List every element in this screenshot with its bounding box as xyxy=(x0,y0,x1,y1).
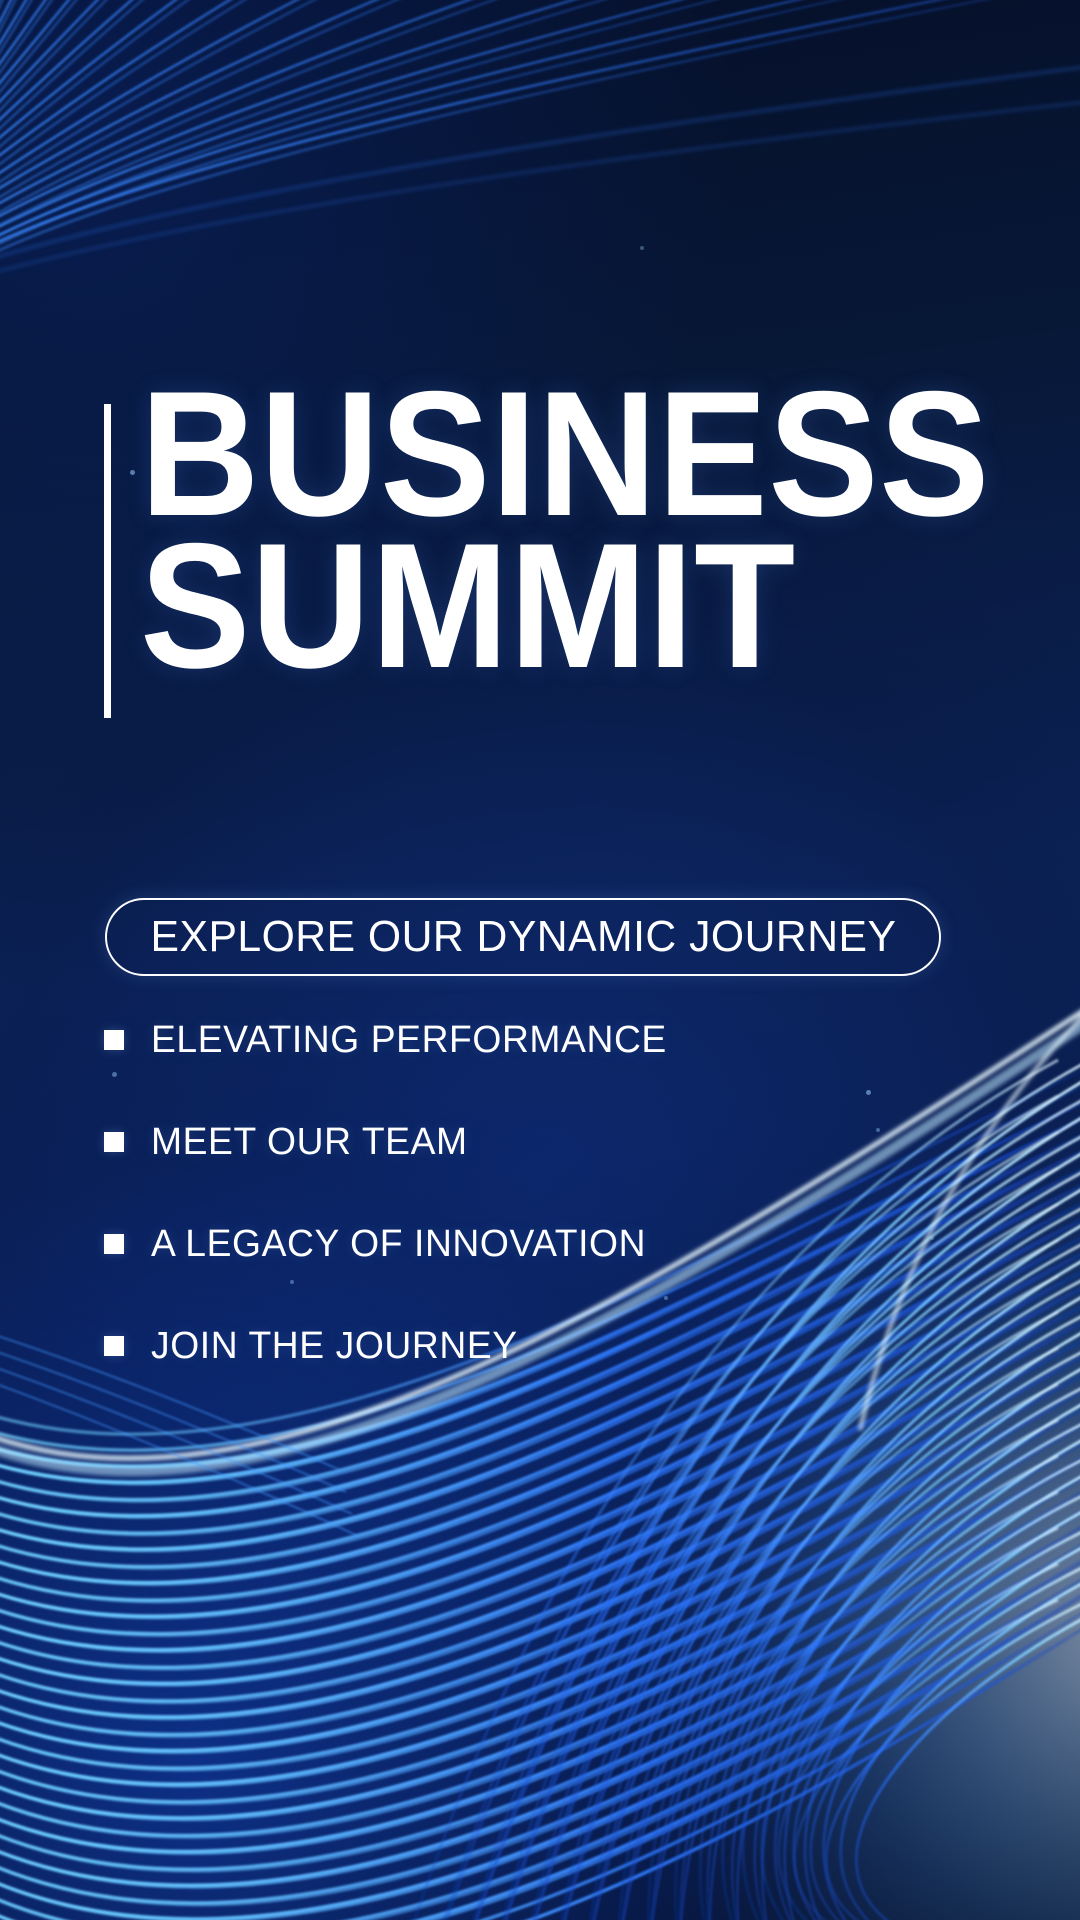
page-title: BUSINESS SUMMIT xyxy=(140,378,1020,682)
explore-journey-button-label: EXPLORE OUR DYNAMIC JOURNEY xyxy=(150,912,896,962)
sparkle-dot xyxy=(866,1090,871,1095)
list-item-label: MEET OUR TEAM xyxy=(151,1121,468,1164)
list-item[interactable]: MEET OUR TEAM xyxy=(104,1124,864,1160)
vertical-accent-bar xyxy=(104,404,111,718)
list-item-label: ELEVATING PERFORMANCE xyxy=(151,1019,667,1062)
sparkle-dot xyxy=(640,246,644,250)
square-bullet-icon xyxy=(104,1234,124,1254)
list-item[interactable]: ELEVATING PERFORMANCE xyxy=(104,1022,864,1058)
square-bullet-icon xyxy=(104,1336,124,1356)
list-item-label: A LEGACY OF INNOVATION xyxy=(151,1223,646,1266)
list-item[interactable]: JOIN THE JOURNEY xyxy=(104,1328,864,1364)
square-bullet-icon xyxy=(104,1132,124,1152)
explore-journey-button[interactable]: EXPLORE OUR DYNAMIC JOURNEY xyxy=(105,898,941,976)
poster-canvas: BUSINESS SUMMIT EXPLORE OUR DYNAMIC JOUR… xyxy=(0,0,1080,1920)
agenda-list: ELEVATING PERFORMANCE MEET OUR TEAM A LE… xyxy=(104,1022,864,1364)
list-item-label: JOIN THE JOURNEY xyxy=(151,1325,518,1368)
sparkle-dot xyxy=(930,1236,934,1240)
square-bullet-icon xyxy=(104,1030,124,1050)
sparkle-dot xyxy=(130,470,135,475)
title-line-2: SUMMIT xyxy=(140,530,958,682)
sparkle-dot xyxy=(876,1128,880,1132)
list-item[interactable]: A LEGACY OF INNOVATION xyxy=(104,1226,864,1262)
